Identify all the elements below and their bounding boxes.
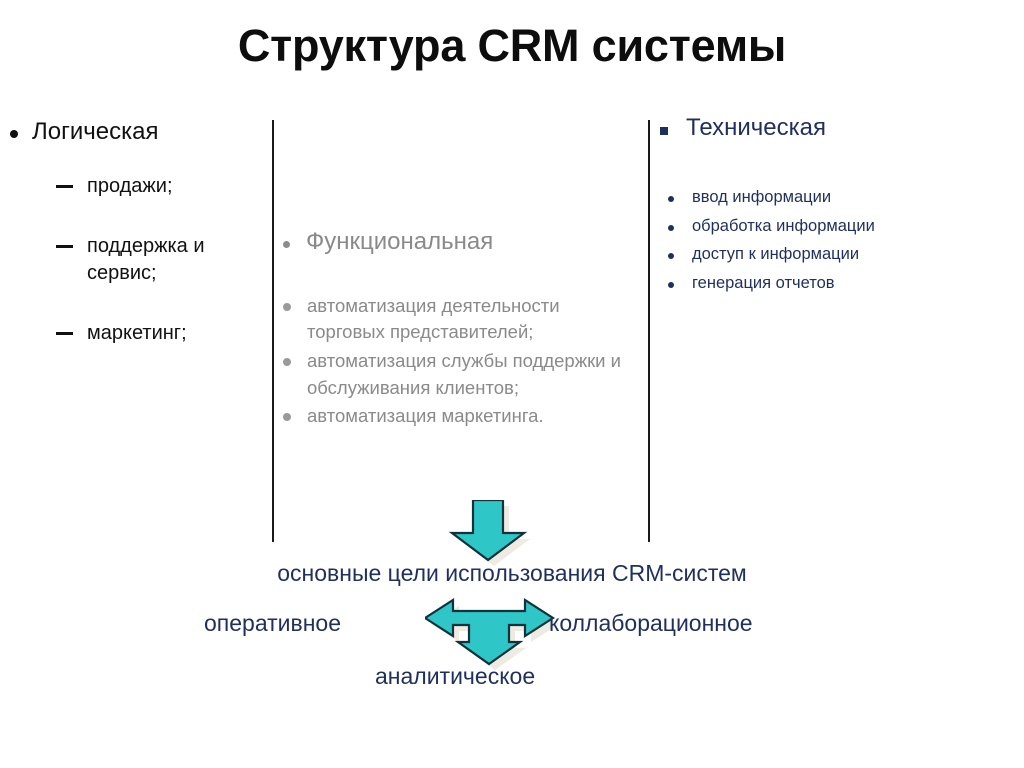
list-item: обработка информации [668, 216, 1010, 238]
dot-bullet-icon [283, 241, 290, 248]
dot-bullet-icon [283, 358, 291, 366]
column-logical: Логическая продажи; поддержка и сервис; … [10, 118, 268, 347]
list-item: продажи; [56, 173, 268, 200]
column-divider-left [272, 120, 274, 542]
technical-item-label: ввод информации [692, 187, 831, 209]
functional-item-label: автоматизация маркетинга. [307, 403, 544, 430]
functional-heading-row: Функциональная [283, 228, 643, 257]
dot-bullet-icon [668, 282, 674, 288]
dot-bullet-icon [10, 130, 18, 138]
page-title: Структура CRM системы [0, 22, 1024, 69]
dash-bullet-icon [56, 332, 73, 335]
column-divider-right [648, 120, 650, 542]
dot-bullet-icon [283, 303, 291, 311]
list-item: автоматизация маркетинга. [283, 403, 643, 430]
square-bullet-icon [660, 127, 668, 135]
logical-heading: Логическая [32, 118, 158, 147]
bottom-section: основные цели использования CRM-систем о… [0, 500, 1024, 730]
crm-type-analytical: аналитическое [375, 663, 535, 690]
list-item: поддержка и сервис; [56, 233, 268, 287]
dash-bullet-icon [56, 245, 73, 248]
list-item: автоматизация службы поддержки и обслужи… [283, 348, 643, 401]
list-item: ввод информации [668, 187, 1010, 209]
column-technical: Техническая ввод информации обработка ин… [660, 114, 1010, 302]
list-item: автоматизация деятельности торговых пред… [283, 293, 643, 346]
technical-item-list: ввод информации обработка информации дос… [660, 187, 1010, 295]
crm-type-operational: оперативное [204, 610, 341, 637]
logical-item-label: продажи; [87, 173, 173, 200]
dot-bullet-icon [668, 225, 674, 231]
dash-bullet-icon [56, 185, 73, 188]
technical-item-label: обработка информации [692, 216, 875, 238]
logical-item-list: продажи; поддержка и сервис; маркетинг; [10, 173, 268, 347]
dot-bullet-icon [668, 196, 674, 202]
technical-heading: Техническая [686, 114, 826, 143]
slide-canvas: Структура CRM системы Логическая продажи… [0, 0, 1024, 768]
logical-item-label: поддержка и сервис; [87, 233, 237, 287]
list-item: генерация отчетов [668, 273, 1010, 295]
list-item: маркетинг; [56, 320, 268, 347]
logical-item-label: маркетинг; [87, 320, 187, 347]
dot-bullet-icon [283, 413, 291, 421]
functional-item-label: автоматизация деятельности торговых пред… [307, 293, 632, 346]
technical-heading-row: Техническая [660, 114, 1010, 143]
functional-item-list: автоматизация деятельности торговых пред… [283, 293, 643, 430]
technical-item-label: генерация отчетов [692, 273, 835, 295]
logical-heading-row: Логическая [10, 118, 268, 147]
crm-type-collaborative: коллаборационное [549, 610, 753, 637]
functional-heading: Функциональная [306, 228, 493, 257]
goals-caption: основные цели использования CRM-систем [0, 560, 1024, 587]
dot-bullet-icon [668, 253, 674, 259]
column-functional: Функциональная автоматизация деятельност… [283, 228, 643, 432]
functional-item-label: автоматизация службы поддержки и обслужи… [307, 348, 632, 401]
technical-item-label: доступ к информации [692, 244, 859, 266]
list-item: доступ к информации [668, 244, 1010, 266]
